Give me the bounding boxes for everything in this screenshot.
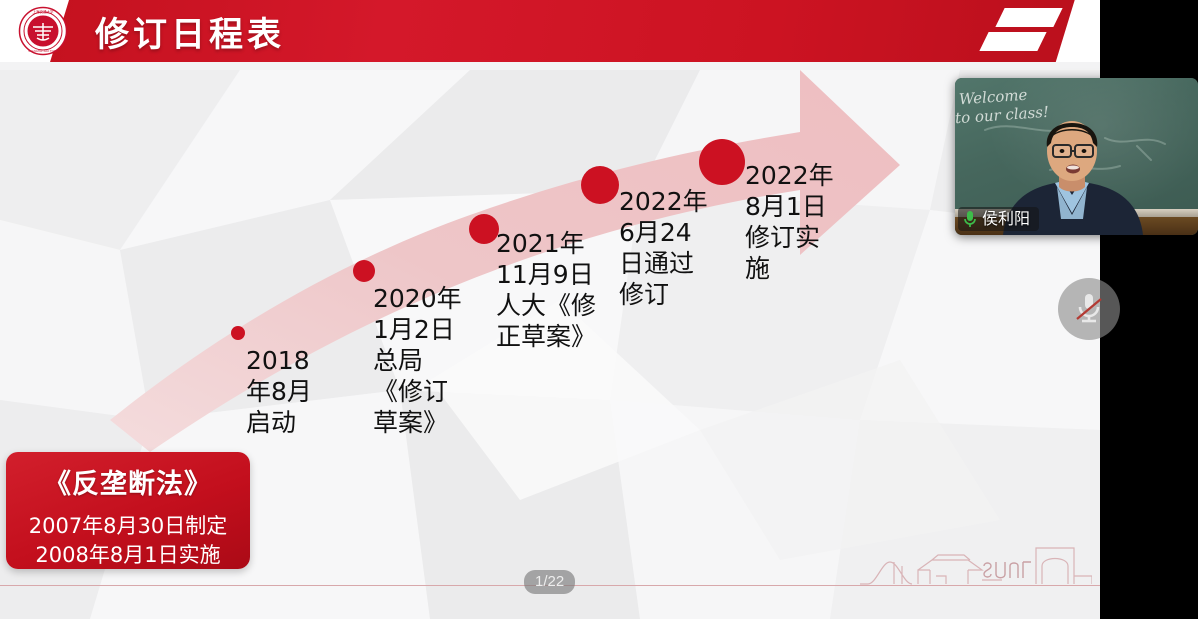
callout-line-2: 2008年8月1日实施 xyxy=(6,542,250,568)
sjtu-skyline-logo xyxy=(860,536,1092,590)
meeting-screen: 上海交通大学 SHANGHAI JIAO TONG 修订日程表 2018年8月启… xyxy=(0,0,1198,619)
sjtu-seal-logo-icon: 上海交通大学 SHANGHAI JIAO TONG xyxy=(18,6,68,56)
slide-header: 上海交通大学 SHANGHAI JIAO TONG 修订日程表 xyxy=(0,0,1100,62)
microphone-icon xyxy=(963,210,977,228)
timeline-dot-4 xyxy=(581,166,619,204)
milestone-label-3: 2021年11月9日人大《修正草案》 xyxy=(496,228,602,352)
timeline-dot-3 xyxy=(469,214,499,244)
timeline-dot-2 xyxy=(353,260,375,282)
presentation-slide[interactable]: 上海交通大学 SHANGHAI JIAO TONG 修订日程表 2018年8月启… xyxy=(0,0,1100,619)
page-title: 修订日程表 xyxy=(95,7,285,56)
slide-counter: 1/22 xyxy=(524,570,575,594)
svg-text:上海交通大学: 上海交通大学 xyxy=(33,9,54,14)
timeline-dot-5 xyxy=(699,139,745,185)
milestone-label-5: 2022年8月1日修订实施 xyxy=(745,160,837,284)
microphone-muted-icon xyxy=(1074,291,1104,327)
milestone-label-1: 2018年8月启动 xyxy=(246,345,312,438)
callout-line-1: 2007年8月30日制定 xyxy=(6,513,250,539)
callout-title: 《反垄断法》 xyxy=(6,462,250,501)
milestone-label-2: 2020年1月2日总局《修订草案》 xyxy=(373,283,471,438)
mute-microphone-button[interactable] xyxy=(1058,278,1120,340)
timeline-dot-1 xyxy=(231,326,245,340)
header-parallelogram-bottom xyxy=(979,32,1046,51)
participant-video-tile[interactable]: Welcome to our class! xyxy=(955,78,1198,235)
participant-name-badge: 侯利阳 xyxy=(958,207,1039,231)
law-callout-box: 《反垄断法》 2007年8月30日制定 2008年8月1日实施 xyxy=(6,452,250,569)
svg-text:SHANGHAI JIAO TONG: SHANGHAI JIAO TONG xyxy=(28,49,58,53)
header-parallelogram-top xyxy=(995,8,1062,27)
milestone-label-4: 2022年6月24日通过修订 xyxy=(619,186,713,310)
participant-name: 侯利阳 xyxy=(982,210,1030,228)
